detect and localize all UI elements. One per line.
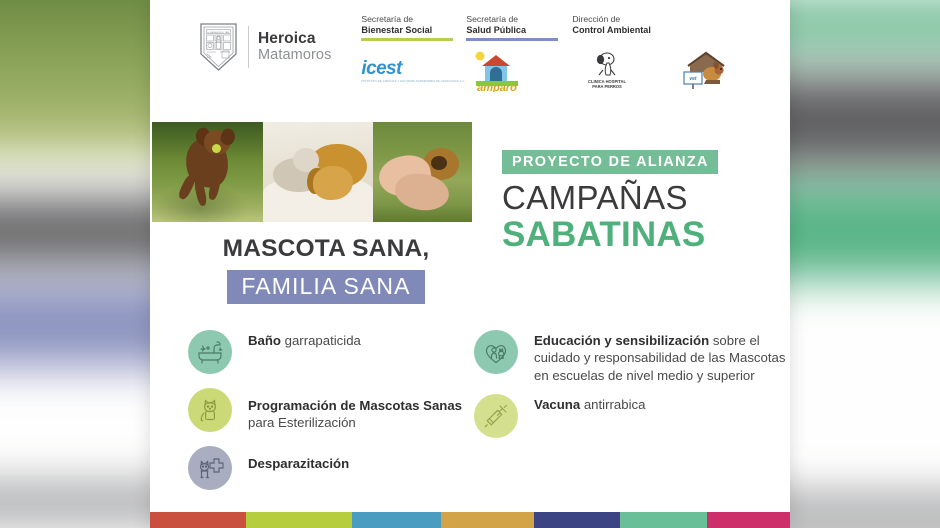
partner-1-rule xyxy=(466,38,558,40)
service-bano-text: Baño garrapaticida xyxy=(248,330,361,349)
campaign-title-block: PROYECTO DE ALIANZA CAMPAÑAS SABATINAS xyxy=(502,150,788,252)
partner-0-line2: Bienestar Social xyxy=(361,25,466,36)
partner-1-line2: Salud Pública xyxy=(466,25,572,36)
service-programacion-mascotas-sanas: Programación de Mascotas Sanas para Este… xyxy=(188,388,468,432)
service-vacuna-antirrabica: Vacuna antirrabica xyxy=(474,394,790,438)
brand-heroica-matamoros: H. MATAMOROS, TAM. xyxy=(198,22,331,72)
photo-kitten-and-puppy xyxy=(263,122,372,222)
partner-0-line1: Secretaría de xyxy=(361,14,466,25)
project-ribbon: PROYECTO DE ALIANZA xyxy=(502,150,718,174)
strip-band-6 xyxy=(707,512,790,528)
strip-band-0 xyxy=(150,512,246,528)
icest-logo-text: icest xyxy=(361,59,465,78)
partner-1-line1: Secretaría de xyxy=(466,14,572,25)
matamoros-coat-of-arms-icon: H. MATAMOROS, TAM. xyxy=(198,22,239,72)
amparo-logo-text: amparo xyxy=(478,82,518,92)
slogan-line1: MASCOTA SANA, xyxy=(176,236,476,263)
partner-logos: Secretaría de Bienestar Social icest INS… xyxy=(361,14,781,92)
strip-band-3 xyxy=(441,512,534,528)
syringe-icon xyxy=(474,394,518,438)
bathtub-icon xyxy=(188,330,232,374)
service-bano-bold: Baño xyxy=(248,333,281,348)
poster-header: H. MATAMOROS, TAM. xyxy=(150,0,790,112)
brand-line-1: Heroica xyxy=(258,31,331,47)
partner-control-ambiental: Dirección de Control Ambiental CLINICA H… xyxy=(572,14,676,92)
strip-band-4 xyxy=(534,512,620,528)
partner-2-line2: Control Ambiental xyxy=(572,25,676,36)
photo-strip xyxy=(152,122,472,222)
brand-line-2: Matamoros xyxy=(258,48,331,63)
service-educacion-bold: Educación y sensibilización xyxy=(534,333,709,348)
icest-logo: icest INSTITUTO DE CIENCIAS Y ESTUDIOS S… xyxy=(361,50,466,92)
service-vacuna-bold: Vacuna xyxy=(534,397,580,412)
brand-divider xyxy=(248,26,249,68)
services-column-left: Baño garrapaticida xyxy=(150,330,468,500)
service-educacion-sensibilizacion: Educación y sensibilización sobre el cui… xyxy=(474,330,790,384)
service-vacuna-rest: antirrabica xyxy=(580,397,645,412)
campaign-title-line1: CAMPAÑAS xyxy=(502,181,788,216)
amparo-logo: amparo xyxy=(466,50,572,92)
veterinaria-logo: vet xyxy=(676,50,781,92)
partner-bienestar-social: Secretaría de Bienestar Social icest INS… xyxy=(361,14,466,92)
slogan-block: MASCOTA SANA, FAMILIA SANA xyxy=(176,236,476,304)
svg-text:vet: vet xyxy=(690,76,698,82)
partner-0-rule xyxy=(361,38,453,40)
service-desparazitacion-bold: Desparazitación xyxy=(248,456,349,471)
service-programacion-text: Programación de Mascotas Sanas para Este… xyxy=(248,388,468,432)
slogan-line2-band: FAMILIA SANA xyxy=(227,270,424,304)
icest-logo-subtext: INSTITUTO DE CIENCIAS Y ESTUDIOS SUPERIO… xyxy=(361,80,465,83)
service-desparazitacion: Desparazitación xyxy=(188,446,468,490)
campaign-title-line2: SABATINAS xyxy=(502,217,788,252)
service-desparazitacion-text: Desparazitación xyxy=(248,446,349,472)
service-programacion-rest: para Esterilización xyxy=(248,415,356,430)
photo-running-dog xyxy=(152,122,263,222)
poster-card: H. MATAMOROS, TAM. xyxy=(150,0,790,528)
service-educacion-text: Educación y sensibilización sobre el cui… xyxy=(534,330,790,384)
svg-text:H. MATAMOROS, TAM.: H. MATAMOROS, TAM. xyxy=(208,31,230,34)
education-heart-pet-icon xyxy=(474,330,518,374)
service-bano-garrapaticida: Baño garrapaticida xyxy=(188,330,468,374)
service-programacion-bold: Programación de Mascotas Sanas xyxy=(248,398,462,413)
services-column-right: Educación y sensibilización sobre el cui… xyxy=(468,330,790,500)
service-bano-rest: garrapaticida xyxy=(281,333,361,348)
strip-band-1 xyxy=(246,512,352,528)
clinica-hospital-para-perros-logo: CLINICA HOSPITAL PARA PERROS xyxy=(572,50,676,92)
strip-band-5 xyxy=(620,512,706,528)
photo-hands-holding-paw xyxy=(373,122,472,222)
svg-text:PARA PERROS: PARA PERROS xyxy=(593,84,623,89)
deworming-cross-icon xyxy=(188,446,232,490)
services-section: Baño garrapaticida xyxy=(150,330,790,500)
service-vacuna-text: Vacuna antirrabica xyxy=(534,394,645,413)
strip-band-2 xyxy=(352,512,442,528)
cat-icon xyxy=(188,388,232,432)
slogan-line2: FAMILIA SANA xyxy=(241,273,410,299)
partner-2-line1: Dirección de xyxy=(572,14,676,25)
partner-salud-publica: Secretaría de Salud Pública amparo xyxy=(466,14,572,92)
bottom-color-strip xyxy=(150,512,790,528)
partner-2-rule xyxy=(572,38,664,40)
partner-veterinaria: . . vet xyxy=(676,14,781,92)
brand-text: Heroica Matamoros xyxy=(258,31,331,63)
